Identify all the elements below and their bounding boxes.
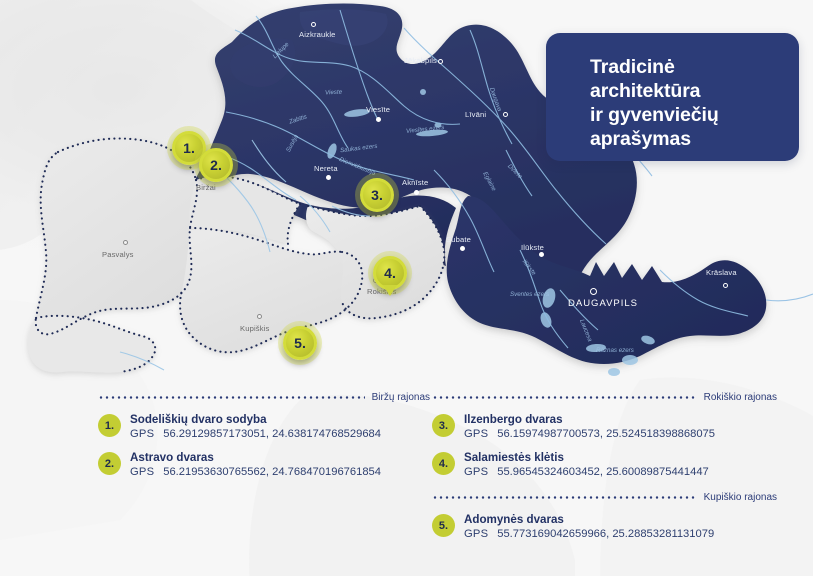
hydronym-label: Rāznas ezers — [596, 347, 634, 354]
legend-badge-3-number: 3. — [439, 420, 448, 432]
title-card: Tradicinė architektūra ir gyvenviečių ap… — [546, 33, 799, 161]
city-label-nereta: Nereta — [314, 164, 338, 173]
city-dot — [414, 190, 419, 195]
legend-badge-5-number: 5. — [439, 520, 448, 532]
city-label-kraslava: Krāslava — [706, 268, 737, 277]
title-text: Tradicinė architektūra ir gyvenviečių ap… — [590, 55, 787, 151]
city-label-akniste: Aknīste — [402, 178, 428, 187]
gps-value: 56.15974987700573, 25.524518398868075 — [497, 428, 715, 440]
rajonas-label: Kupiškio rajonas — [704, 492, 777, 503]
legend-entry-1[interactable]: 1. Sodeliškių dvaro sodyba GPS56.2912985… — [98, 413, 430, 442]
gps-value: 55.773169042659966, 25.28853281131079 — [497, 528, 714, 540]
legend-group-kupiskio: Kupiškio rajonas 5. Adomynės dvaras GPS5… — [432, 490, 777, 542]
legend-entry-4-name: Salamiestės klėtis — [464, 451, 709, 465]
city-dot — [123, 240, 128, 245]
city-label-daugavpils: DAUGAVPILS — [568, 298, 638, 309]
dotted-separator — [98, 396, 365, 399]
rajonas-header: Rokiškio rajonas — [432, 390, 777, 404]
gps-label: GPS — [464, 528, 488, 540]
city-dot — [460, 246, 465, 251]
gps-label: GPS — [130, 466, 154, 478]
city-label-livani: Līvāni — [465, 110, 486, 119]
city-label-birzai: Biržai — [196, 183, 216, 192]
legend-entry-5-gps: GPS55.773169042659966, 25.28853281131079 — [464, 527, 714, 542]
city-dot — [376, 117, 381, 122]
legend-group-rokiskio: Rokiškio rajonas 3. Ilzenbergo dvaras GP… — [432, 390, 777, 480]
rajonas-label: Rokiškio rajonas — [704, 392, 777, 403]
hydronym-label: Vieste — [325, 89, 342, 97]
rajonas-label: Biržų rajonas — [372, 392, 430, 403]
city-dot — [539, 252, 544, 257]
city-label-pasvalys: Pasvalys — [102, 250, 134, 259]
legend-entry-3[interactable]: 3. Ilzenbergo dvaras GPS56.1597498770057… — [432, 413, 777, 442]
legend-badge-3: 3. — [432, 414, 455, 437]
city-label-ilukste: Ilūkste — [521, 243, 544, 252]
map-marker-4[interactable]: 4. — [373, 256, 407, 290]
city-label-jekabpils: Jēkabpils — [404, 56, 437, 65]
gps-label: GPS — [464, 466, 488, 478]
gps-label: GPS — [464, 428, 488, 440]
map-marker-2[interactable]: 2. — [199, 148, 233, 182]
legend-entry-2-name: Astravo dvaras — [130, 451, 381, 465]
city-label-aizkraukle: Aizkraukle — [299, 30, 336, 39]
legend: Biržų rajonas 1. Sodeliškių dvaro sodyba… — [0, 380, 813, 576]
city-dot — [257, 314, 262, 319]
legend-entry-2-gps: GPS56.21953630765562, 24.768470196761854 — [130, 465, 381, 480]
map-marker-3-label: 3. — [371, 188, 383, 202]
legend-badge-2: 2. — [98, 452, 121, 475]
gps-label: GPS — [130, 428, 154, 440]
map-marker-2-label: 2. — [210, 158, 222, 172]
legend-entry-4-gps: GPS55.96545324603452, 25.60089875441447 — [464, 465, 709, 480]
hydronym-label: Sventes ezers — [510, 291, 549, 298]
legend-badge-2-number: 2. — [105, 458, 114, 470]
legend-badge-1: 1. — [98, 414, 121, 437]
legend-badge-5: 5. — [432, 514, 455, 537]
legend-entry-4[interactable]: 4. Salamiestės klėtis GPS55.965453246034… — [432, 451, 777, 480]
city-dot-daugavpils — [590, 288, 597, 295]
rajonas-header: Kupiškio rajonas — [432, 490, 777, 504]
legend-entry-1-gps: GPS56.29129857173051, 24.638174768529684 — [130, 427, 381, 442]
legend-entry-2[interactable]: 2. Astravo dvaras GPS56.21953630765562, … — [98, 451, 430, 480]
legend-entry-5-name: Adomynės dvaras — [464, 513, 714, 527]
map-marker-5[interactable]: 5. — [283, 326, 317, 360]
dotted-separator — [432, 396, 697, 399]
map-marker-1-label: 1. — [183, 141, 195, 155]
legend-badge-1-number: 1. — [105, 420, 114, 432]
legend-entry-3-gps: GPS56.15974987700573, 25.524518398868075 — [464, 427, 715, 442]
city-label-subate: Subate — [446, 235, 471, 244]
city-dot — [311, 22, 316, 27]
rajonas-header: Biržų rajonas — [98, 390, 430, 404]
legend-group-birzu: Biržų rajonas 1. Sodeliškių dvaro sodyba… — [98, 390, 430, 480]
city-label-kupiskis: Kupiškis — [240, 324, 269, 333]
city-label-viesite: Viesīte — [366, 105, 390, 114]
city-dot — [326, 175, 331, 180]
legend-entry-5[interactable]: 5. Adomynės dvaras GPS55.773169042659966… — [432, 513, 777, 542]
gps-value: 56.29129857173051, 24.638174768529684 — [163, 428, 381, 440]
legend-entry-3-name: Ilzenbergo dvaras — [464, 413, 715, 427]
legend-badge-4-number: 4. — [439, 458, 448, 470]
dotted-separator — [432, 496, 697, 499]
map-marker-4-label: 4. — [384, 266, 396, 280]
gps-value: 55.96545324603452, 25.60089875441447 — [497, 466, 709, 478]
infographic-canvas: Tradicinė architektūra ir gyvenviečių ap… — [0, 0, 813, 576]
legend-entry-1-name: Sodeliškių dvaro sodyba — [130, 413, 381, 427]
city-dot — [438, 59, 443, 64]
city-dot — [503, 112, 508, 117]
city-dot — [723, 283, 728, 288]
gps-value: 56.21953630765562, 24.768470196761854 — [163, 466, 381, 478]
map-marker-3[interactable]: 3. — [360, 178, 394, 212]
legend-badge-4: 4. — [432, 452, 455, 475]
map-marker-5-label: 5. — [294, 336, 306, 350]
